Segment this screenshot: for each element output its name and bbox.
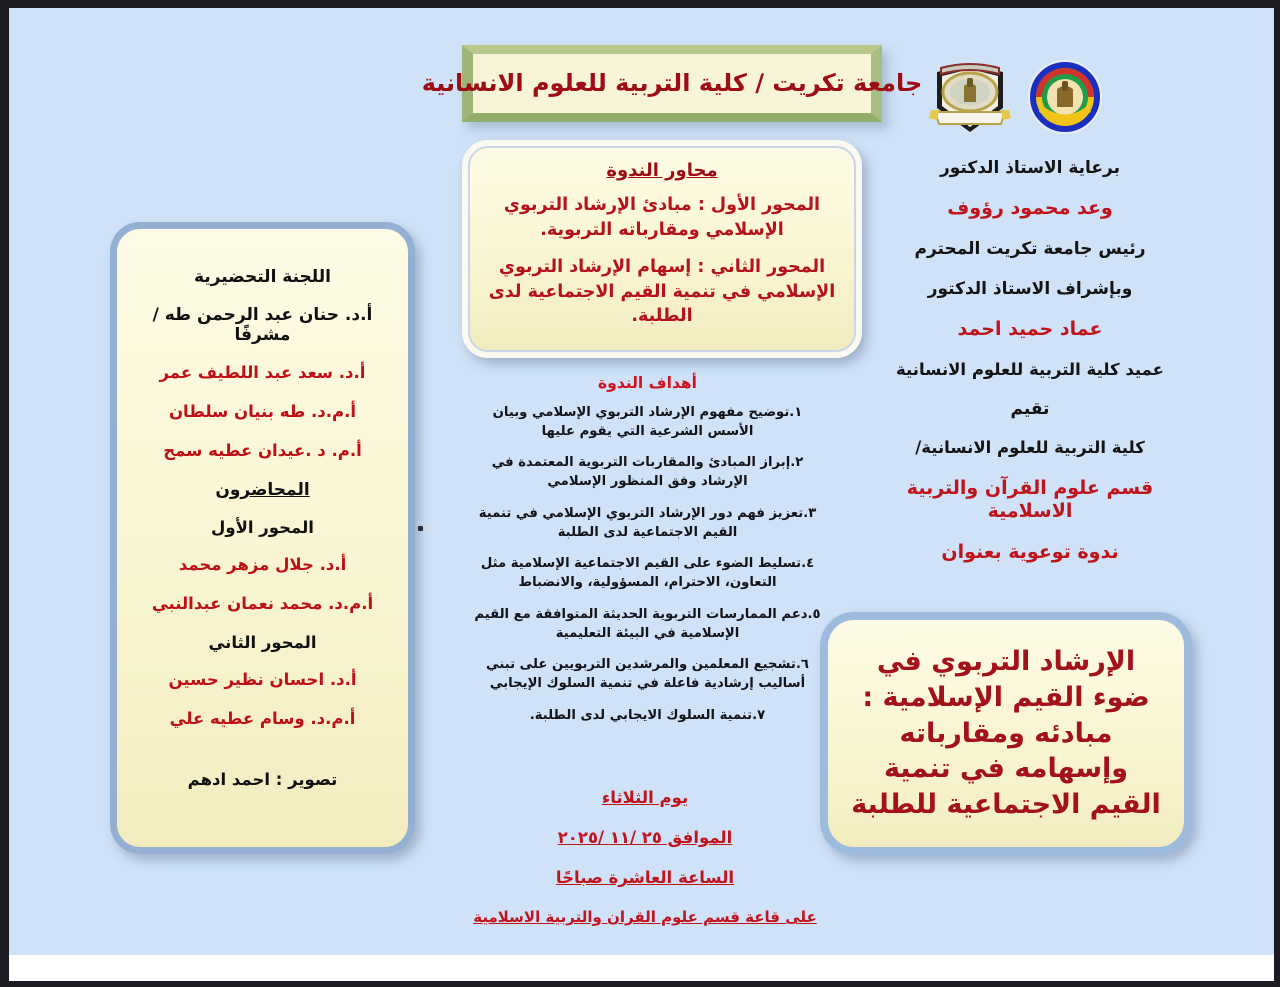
topics-card: محاور الندوة المحور الأول : مبادئ الإرشا…	[462, 140, 862, 358]
committee-member: أ.م.د. طه بنيان سلطان	[137, 402, 388, 421]
frame-edge-right	[1274, 0, 1280, 987]
lecturers-heading: المحاضرون	[137, 480, 388, 500]
seminar-title-text: الإرشاد التربوي في ضوء القيم الإسلامية :…	[850, 644, 1162, 822]
frame-edge-bottom	[0, 981, 1280, 987]
committee-supervisor: أ.د. حنان عبد الرحمن طه / مشرفًا	[137, 305, 388, 345]
objectives-heading: أهداف الندوة	[470, 374, 825, 392]
frame-edge-top	[0, 0, 1280, 8]
topics-heading: محاور الندوة	[486, 160, 838, 181]
patronage-column: برعاية الاستاذ الدكتور وعد محمود رؤوف رئ…	[880, 158, 1180, 583]
organizer-verb: تقيم	[880, 399, 1180, 419]
patronage-line: برعاية الاستاذ الدكتور	[880, 158, 1180, 178]
topic-item: المحور الثاني : إسهام الإرشاد التربوي ال…	[486, 255, 838, 330]
organizer-college: كلية التربية للعلوم الانسانية/	[880, 438, 1180, 458]
objective-item: ٣.تعزيز فهم دور الإرشاد التربوي الإسلامي…	[470, 505, 825, 542]
objective-item: ٢.إبراز المبادئ والمقاربات التربوية المع…	[470, 454, 825, 491]
schedule-date: الموافق ٢٥ /١١ /٢٠٢٥	[455, 828, 835, 847]
objective-item: ٤.تسليط الضوء على القيم الاجتماعية الإسل…	[470, 555, 825, 592]
organizer-department: قسم علوم القرآن والتربية الاسلامية	[880, 477, 1180, 523]
axis-two-speaker: أ.د. احسان نظير حسين	[137, 670, 388, 689]
supervision-line: وبإشراف الاستاذ الدكتور	[880, 279, 1180, 299]
schedule-section: يوم الثلاثاء الموافق ٢٥ /١١ /٢٠٢٥ الساعة…	[455, 788, 835, 947]
stray-period-mark	[418, 526, 423, 531]
supervisor-name: عماد حميد احمد	[880, 318, 1180, 341]
committee-member: أ.د. سعد عبد اللطيف عمر	[137, 363, 388, 382]
objective-item: ١.توضيح مفهوم الإرشاد التربوي الإسلامي و…	[470, 404, 825, 441]
photography-credit: تصوير : احمد ادهم	[137, 770, 388, 789]
schedule-day: يوم الثلاثاء	[455, 788, 835, 807]
objective-item: ٧.تنمية السلوك الايجابي لدى الطلبة.	[470, 707, 825, 726]
patron-title: رئيس جامعة تكريت المحترم	[880, 239, 1180, 259]
frame-edge-left	[0, 0, 9, 987]
schedule-time: الساعة العاشرة صباحًا	[455, 868, 835, 887]
objectives-section: أهداف الندوة ١.توضيح مفهوم الإرشاد الترب…	[470, 374, 825, 739]
topic-item: المحور الأول : مبادئ الإرشاد التربوي الإ…	[486, 193, 838, 243]
logos-group	[920, 52, 1110, 142]
slide-footer-strip	[9, 955, 1274, 981]
seminar-poster: جامعة تكريت / كلية التربية للعلوم الانسا…	[0, 0, 1280, 987]
committee-heading: اللجنة التحضيرية	[137, 267, 388, 287]
axis-one-speaker: أ.د. جلال مزهر محمد	[137, 555, 388, 574]
college-shield-emblem	[927, 58, 1013, 136]
axis-two-label: المحور الثاني	[137, 633, 388, 652]
preparatory-committee-card: اللجنة التحضيرية أ.د. حنان عبد الرحمن طه…	[110, 222, 415, 854]
university-banner-text: جامعة تكريت / كلية التربية للعلوم الانسا…	[422, 69, 923, 98]
committee-member: أ.م. د .عيدان عطيه سمح	[137, 441, 388, 460]
axis-one-speaker: أ.م.د. محمد نعمان عبدالنبي	[137, 594, 388, 613]
objective-item: ٥.دعم الممارسات التربوية الحديثة المتواف…	[470, 606, 825, 643]
axis-two-speaker: أ.م.د. وسام عطيه علي	[137, 709, 388, 728]
supervisor-title: عميد كلية التربية للعلوم الانسانية	[880, 360, 1180, 380]
axis-one-label: المحور الأول	[137, 518, 388, 537]
university-banner: جامعة تكريت / كلية التربية للعلوم الانسا…	[462, 45, 882, 122]
tikrit-university-circular-emblem	[1027, 59, 1103, 135]
patron-name: وعد محمود رؤوف	[880, 197, 1180, 220]
objective-item: ٦.تشجيع المعلمين والمرشدين التربويين على…	[470, 656, 825, 693]
seminar-title-card: الإرشاد التربوي في ضوء القيم الإسلامية :…	[820, 612, 1192, 855]
schedule-venue: على قاعة قسم علوم القران والتربية الاسلا…	[455, 908, 835, 926]
event-type-label: ندوة توعوية بعنوان	[880, 541, 1180, 564]
